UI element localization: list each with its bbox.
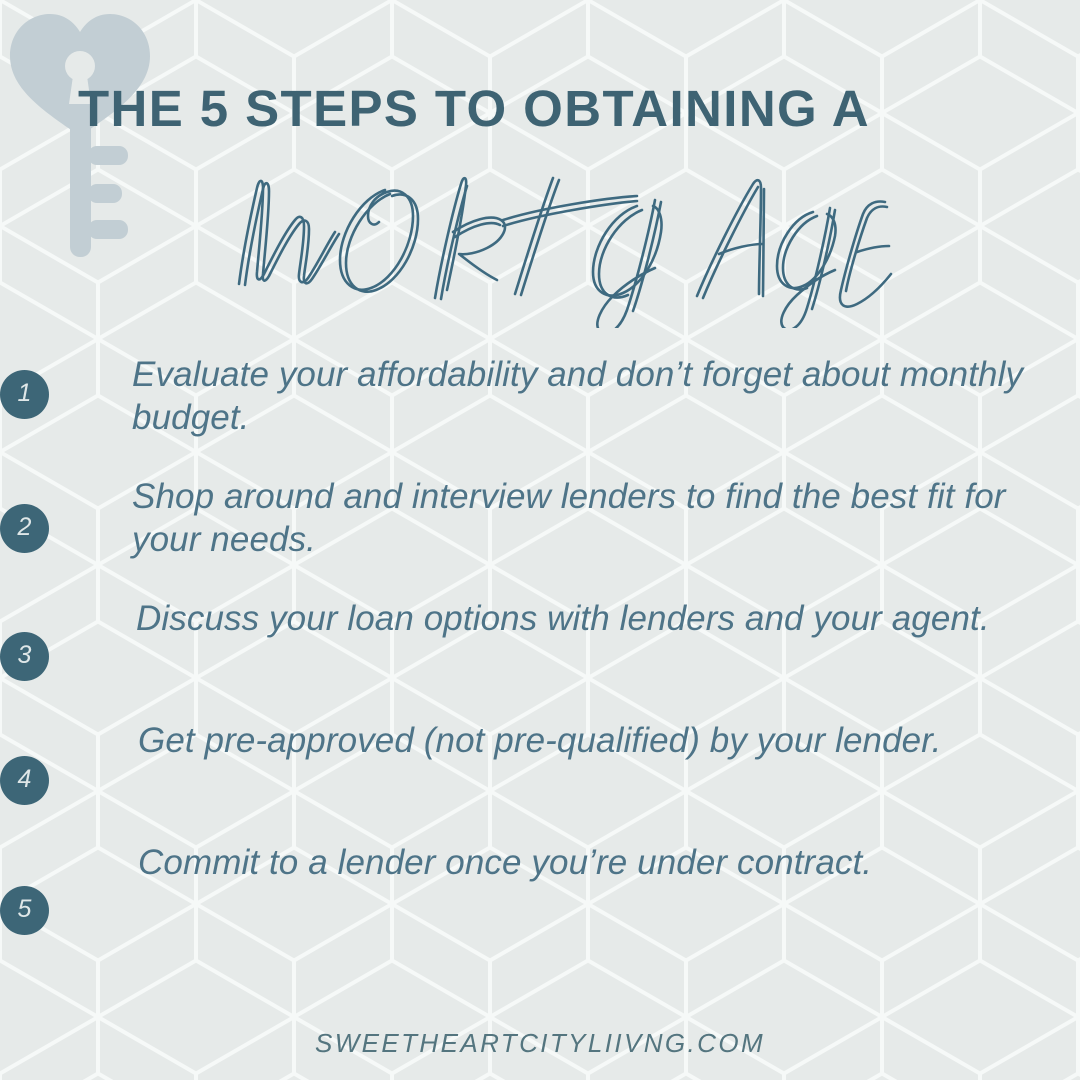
script-wordmark: MORTGAGE [185,148,905,328]
step-badge-5: 5 [0,886,49,935]
step-text-1: Evaluate your affordability and don’t fo… [50,352,1032,439]
step-badge-4: 4 [0,756,49,805]
poster-canvas: THE 5 STEPS TO OBTAINING A MORTGAGE [0,0,1080,1080]
list-item: 1 Evaluate your affordability and don’t … [0,352,1080,474]
step-text-3: Discuss your loan options with lenders a… [50,596,1036,641]
step-text-2: Shop around and interview lenders to fin… [50,474,1032,561]
list-item: 3 Discuss your loan options with lenders… [0,596,1080,718]
page-title: THE 5 STEPS TO OBTAINING A [78,83,1018,134]
step-badge-2: 2 [0,504,49,553]
step-badge-1: 1 [0,370,49,419]
list-item: 4 Get pre-approved (not pre-qualified) b… [0,718,1080,840]
list-item: 2 Shop around and interview lenders to f… [0,474,1080,596]
steps-list: 1 Evaluate your affordability and don’t … [0,352,1080,962]
step-badge-3: 3 [0,632,49,681]
list-item: 5 Commit to a lender once you’re under c… [0,840,1080,962]
step-text-4: Get pre-approved (not pre-qualified) by … [50,718,1038,763]
step-text-5: Commit to a lender once you’re under con… [50,840,1038,885]
website-footer: SWEETHEARTCITYLIIVNG.COM [0,1028,1080,1059]
